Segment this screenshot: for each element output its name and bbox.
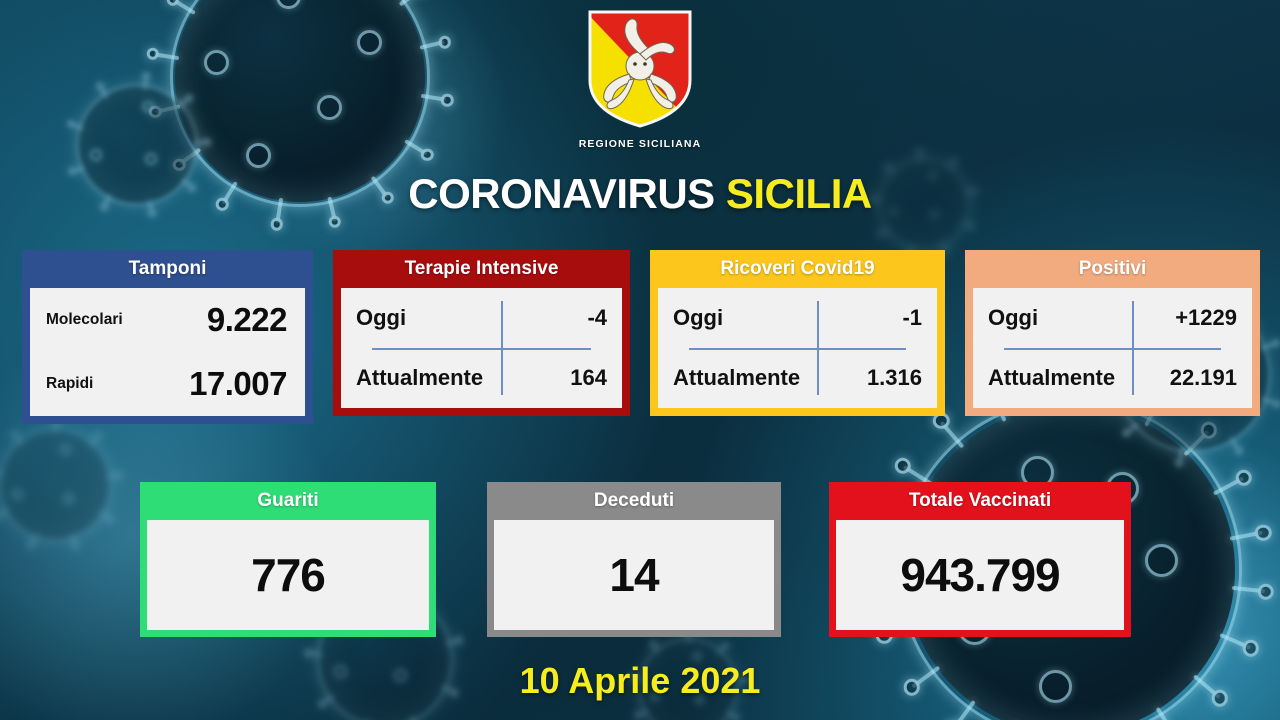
divider-horizontal (372, 348, 591, 350)
card-deceduti-title: Deceduti (487, 482, 781, 520)
card-totale-vaccinati: Totale Vaccinati 943.799 (829, 482, 1131, 637)
row-value: -1 (800, 305, 937, 331)
card-deceduti: Deceduti 14 (487, 482, 781, 637)
table-row: Rapidi 17.007 (30, 352, 305, 416)
row-label: Attualmente (341, 365, 483, 391)
row-label: Oggi (341, 305, 483, 331)
row-value: +1229 (1115, 305, 1252, 331)
card-ricoveri-covid19-body: Oggi -1 Attualmente 1.316 (658, 288, 937, 408)
card-terapie-intensive: Terapie Intensive Oggi -4 Attualmente 16… (333, 250, 630, 416)
card-guariti-value: 776 (251, 548, 325, 602)
card-tamponi-title: Tamponi (22, 250, 313, 288)
row-label: Oggi (973, 305, 1115, 331)
card-totale-vaccinati-body: 943.799 (836, 520, 1124, 630)
row-value: 1.316 (800, 365, 937, 391)
row-label: Attualmente (973, 365, 1115, 391)
divider-horizontal (689, 348, 907, 350)
card-terapie-intensive-title: Terapie Intensive (333, 250, 630, 288)
row-label: Molecolari (46, 311, 123, 329)
card-totale-vaccinati-value: 943.799 (900, 548, 1059, 602)
crest-caption: REGIONE SICILIANA (0, 138, 1280, 150)
row-value: 17.007 (189, 365, 287, 403)
row-label: Attualmente (658, 365, 800, 391)
card-positivi: Positivi Oggi +1229 Attualmente 22.191 (965, 250, 1260, 416)
card-positivi-body: Oggi +1229 Attualmente 22.191 (973, 288, 1252, 408)
row-value: 164 (483, 365, 622, 391)
divider-vertical (1132, 301, 1134, 395)
row-value: 22.191 (1115, 365, 1252, 391)
card-ricoveri-covid19: Ricoveri Covid19 Oggi -1 Attualmente 1.3… (650, 250, 945, 416)
divider-vertical (817, 301, 819, 395)
regione-siciliana-crest: REGIONE SICILIANA (0, 8, 1280, 150)
page-title-highlight: SICILIA (726, 170, 872, 217)
page-title: CORONAVIRUS SICILIA (0, 170, 1280, 218)
row-label: Rapidi (46, 375, 93, 393)
card-deceduti-body: 14 (494, 520, 774, 630)
card-guariti: Guariti 776 (140, 482, 436, 637)
card-tamponi-body: Molecolari 9.222 Rapidi 17.007 (30, 288, 305, 416)
divider-vertical (501, 301, 503, 395)
table-row: Molecolari 9.222 (30, 288, 305, 352)
report-date: 10 Aprile 2021 (0, 660, 1280, 702)
card-totale-vaccinati-title: Totale Vaccinati (829, 482, 1131, 520)
page-title-main: CORONAVIRUS (408, 170, 714, 217)
divider-horizontal (1004, 348, 1222, 350)
card-tamponi: Tamponi Molecolari 9.222 Rapidi 17.007 (22, 250, 313, 424)
card-deceduti-value: 14 (609, 548, 658, 602)
card-ricoveri-covid19-title: Ricoveri Covid19 (650, 250, 945, 288)
card-terapie-intensive-body: Oggi -4 Attualmente 164 (341, 288, 622, 408)
card-positivi-title: Positivi (965, 250, 1260, 288)
row-label: Oggi (658, 305, 800, 331)
card-guariti-title: Guariti (140, 482, 436, 520)
row-value: -4 (483, 305, 622, 331)
trinacria-coat-of-arms-icon (582, 8, 698, 130)
row-value: 9.222 (207, 301, 287, 339)
card-guariti-body: 776 (147, 520, 429, 630)
